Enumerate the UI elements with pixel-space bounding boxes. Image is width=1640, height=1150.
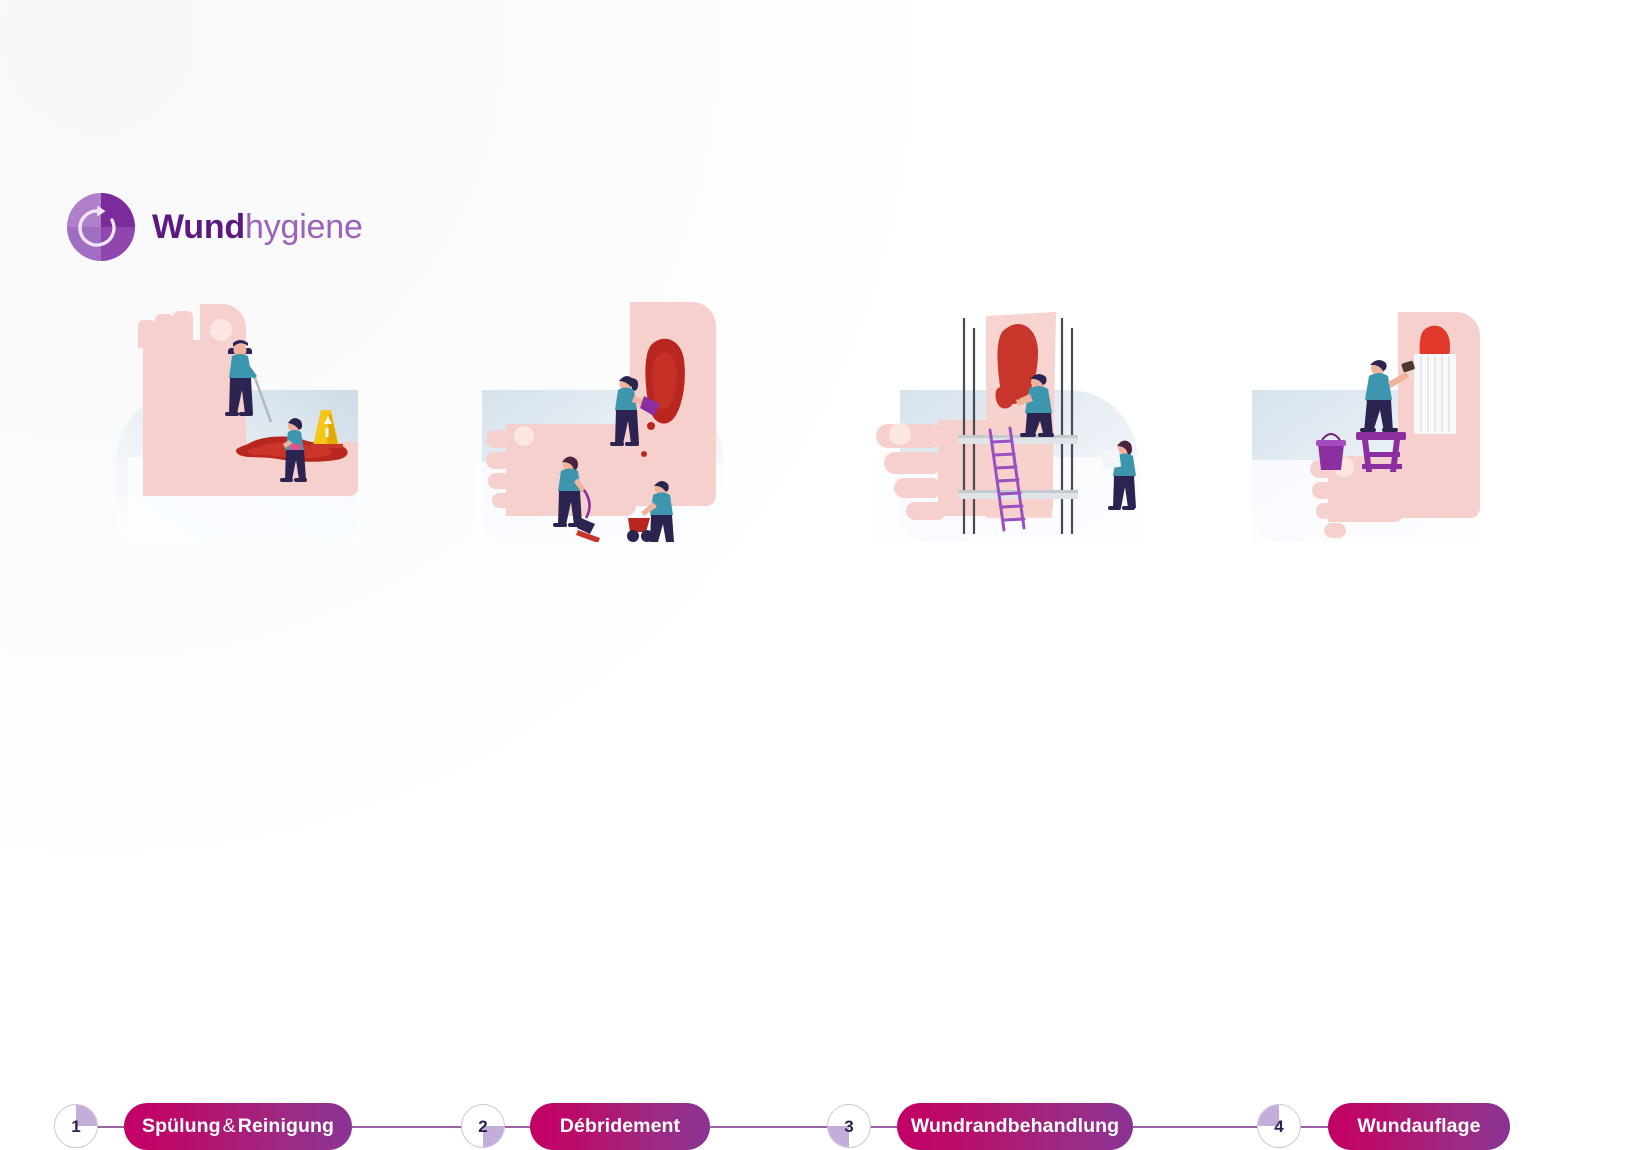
brand-name-bold: Wund bbox=[152, 208, 245, 246]
wundhygiene-circle-arrow-logo-icon bbox=[66, 192, 136, 262]
step-number-3: 3 bbox=[844, 1118, 853, 1135]
connector-p2-c3 bbox=[710, 1126, 828, 1128]
step-label-1-part2: Reinigung bbox=[238, 1115, 334, 1138]
step-label-2: Débridement bbox=[560, 1115, 680, 1138]
step-pill-1[interactable]: Spülung & Reinigung bbox=[124, 1103, 352, 1150]
illustration-step-1 bbox=[108, 292, 366, 542]
connector-c4-p4 bbox=[1300, 1126, 1330, 1128]
page-background: Wundhygiene bbox=[0, 0, 1640, 924]
brand-logo: Wundhygiene bbox=[66, 192, 363, 262]
step-label-4: Wundauflage bbox=[1357, 1115, 1480, 1138]
illustration-step-3 bbox=[838, 292, 1148, 542]
connector-p3-c4 bbox=[1133, 1126, 1257, 1128]
step-marker-2[interactable]: 2 bbox=[461, 1104, 505, 1148]
step-pill-4[interactable]: Wundauflage bbox=[1328, 1103, 1510, 1150]
process-stepper: 1 Spülung & Reinigung 2 Débridement 3 Wu… bbox=[0, 548, 1640, 610]
step-pill-3[interactable]: Wundrandbehandlung bbox=[897, 1103, 1133, 1150]
step-marker-4[interactable]: 4 bbox=[1257, 1104, 1301, 1148]
step-number-1: 1 bbox=[71, 1118, 80, 1135]
connector-p1-c2 bbox=[352, 1126, 464, 1128]
brand-name-light: hygiene bbox=[245, 208, 363, 246]
illustration-step-4 bbox=[1252, 292, 1482, 542]
connector-c3-p3 bbox=[870, 1126, 900, 1128]
step-label-1-part1: Spülung bbox=[142, 1115, 221, 1138]
step-number-2: 2 bbox=[478, 1118, 487, 1135]
brand-name: Wundhygiene bbox=[152, 208, 363, 247]
illustration-step-2 bbox=[470, 292, 732, 542]
step-label-1-amp: & bbox=[221, 1115, 238, 1138]
step-marker-1[interactable]: 1 bbox=[54, 1104, 98, 1148]
step-number-4: 4 bbox=[1274, 1118, 1283, 1135]
illustration-row bbox=[0, 292, 1640, 542]
step-label-3: Wundrandbehandlung bbox=[911, 1115, 1119, 1138]
step-pill-2[interactable]: Débridement bbox=[530, 1103, 710, 1150]
step-marker-3[interactable]: 3 bbox=[827, 1104, 871, 1148]
